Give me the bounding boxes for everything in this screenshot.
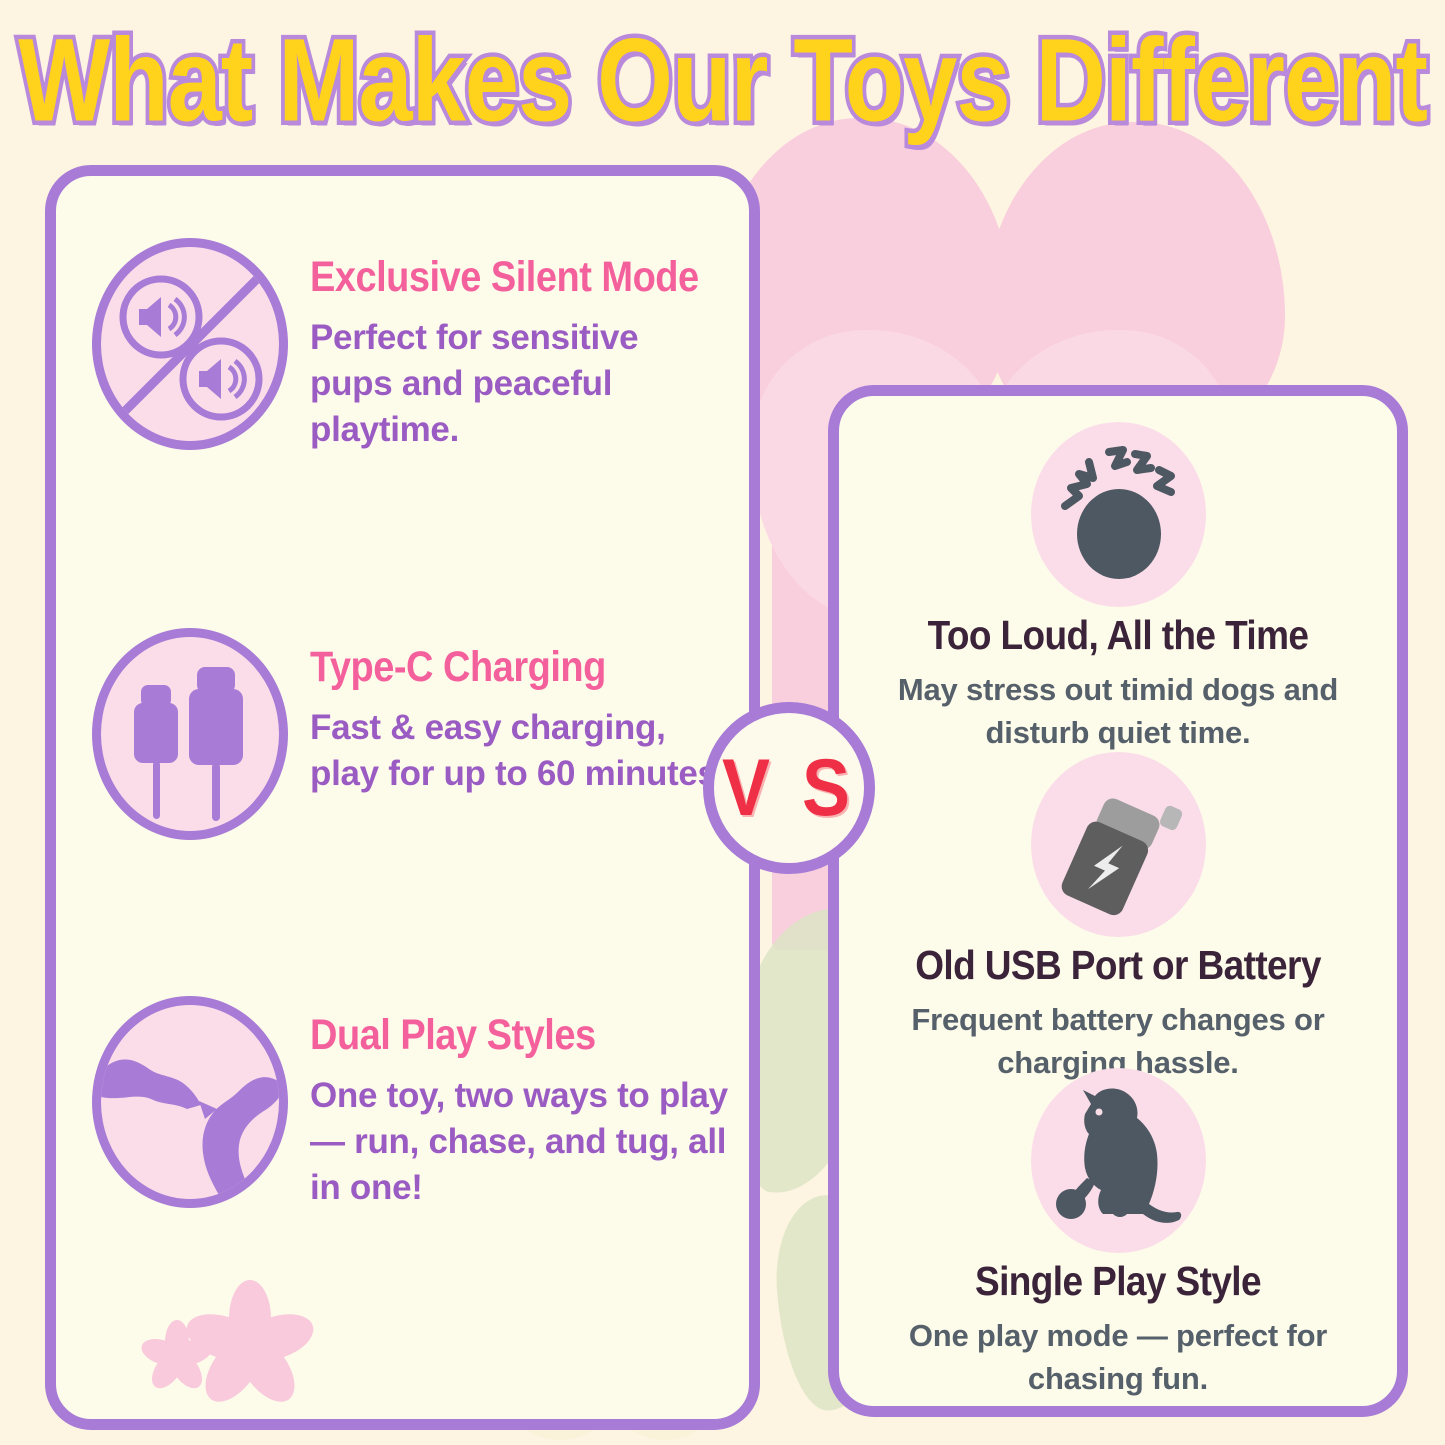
feature-text: Type-C Charging Fast & easy charging, pl… [310, 628, 730, 797]
dog-with-ball-icon [1031, 1068, 1206, 1253]
page-title: What Makes Our Toys Different [18, 22, 1427, 140]
mute-speaker-slash-icon [92, 238, 288, 450]
con-title: Single Play Style [839, 1259, 1397, 1305]
vs-badge: V S [703, 702, 875, 874]
page-title-wrap: What Makes Our Toys Different [0, 22, 1445, 114]
con-body: One play mode — perfect for chasing fun. [839, 1315, 1397, 1401]
usb-type-c-cable-icon [92, 628, 288, 840]
con-title: Old USB Port or Battery [839, 943, 1397, 989]
battery-icon [1031, 752, 1206, 937]
feature-body: One toy, two ways to play — run, chase, … [310, 1073, 730, 1212]
feature-row: Exclusive Silent Mode Perfect for sensit… [92, 238, 730, 454]
con-block: Too Loud, All the Time May stress out ti… [839, 422, 1397, 755]
feature-text: Exclusive Silent Mode Perfect for sensit… [310, 238, 730, 454]
feature-body: Fast & easy charging, play for up to 60 … [310, 705, 730, 797]
feature-row: Dual Play Styles One toy, two ways to pl… [92, 996, 730, 1212]
feature-title: Exclusive Silent Mode [310, 254, 730, 302]
con-block: Old USB Port or Battery Frequent battery… [839, 752, 1397, 1085]
feature-text: Dual Play Styles One toy, two ways to pl… [310, 996, 730, 1212]
dual-play-tug-icon [92, 996, 288, 1208]
feature-row: Type-C Charging Fast & easy charging, pl… [92, 628, 730, 840]
feature-body: Perfect for sensitive pups and peaceful … [310, 315, 730, 454]
feature-title: Type-C Charging [310, 644, 730, 692]
con-block: Single Play Style One play mode — perfec… [839, 1068, 1397, 1401]
cons-card: Too Loud, All the Time May stress out ti… [828, 385, 1408, 1417]
con-body: May stress out timid dogs and disturb qu… [839, 669, 1397, 755]
vs-label: V S [722, 742, 856, 834]
con-title: Too Loud, All the Time [839, 613, 1397, 659]
feature-title: Dual Play Styles [310, 1012, 730, 1060]
infographic-root: What Makes Our Toys Different [0, 0, 1445, 1445]
loud-noise-ball-icon [1031, 422, 1206, 607]
pros-card: Exclusive Silent Mode Perfect for sensit… [45, 165, 760, 1430]
